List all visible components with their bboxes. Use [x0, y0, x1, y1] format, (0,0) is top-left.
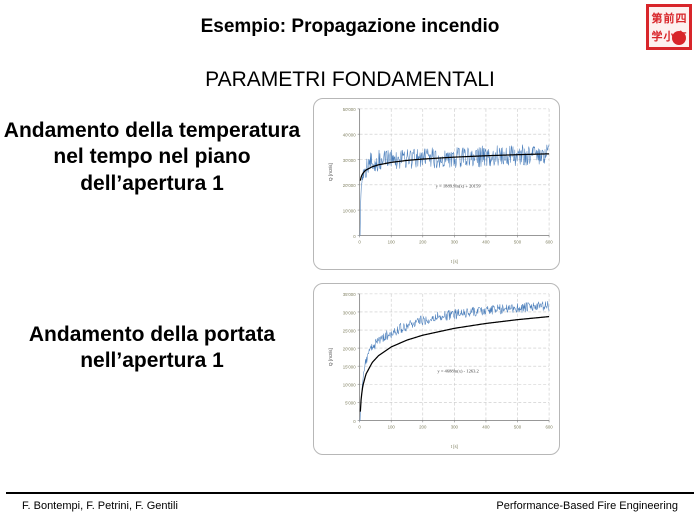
svg-text:Q [m3/s]: Q [m3/s]	[328, 348, 334, 366]
chart-temperatura: 010'00020'00030'00040'00050'000010020030…	[313, 98, 560, 270]
chart-portata: 05'00010'00015'00020'00025'00030'00035'0…	[313, 283, 560, 455]
svg-text:300: 300	[451, 424, 459, 429]
svg-text:0: 0	[353, 419, 356, 424]
footer-subject: Performance-Based Fire Engineering	[496, 500, 678, 512]
svg-text:0: 0	[358, 239, 361, 244]
svg-text:300: 300	[451, 239, 459, 244]
page-title: Esempio: Propagazione incendio	[0, 16, 700, 38]
chart-portata-svg: 05'00010'00015'00020'00025'00030'00035'0…	[314, 284, 559, 454]
seal-dot-icon	[672, 31, 686, 45]
svg-text:600: 600	[545, 424, 553, 429]
svg-text:10'000: 10'000	[343, 383, 357, 388]
svg-text:40'000: 40'000	[343, 133, 357, 138]
svg-text:200: 200	[419, 239, 427, 244]
svg-text:0: 0	[358, 424, 361, 429]
svg-text:20'000: 20'000	[343, 183, 357, 188]
footer-authors: F. Bontempi, F. Petrini, F. Gentili	[22, 500, 178, 512]
svg-text:20'000: 20'000	[343, 346, 357, 351]
svg-text:5'000: 5'000	[345, 401, 356, 406]
svg-text:500: 500	[514, 239, 522, 244]
chart-temperatura-plot: 010'00020'00030'00040'00050'000010020030…	[314, 99, 559, 269]
page-subtitle: PARAMETRI FONDAMENTALI	[0, 68, 700, 92]
seal-glyph: 前	[664, 13, 675, 24]
svg-text:100: 100	[388, 424, 396, 429]
red-seal-logo-icon: 第 前 四 学 小 言	[646, 4, 692, 50]
svg-text:100: 100	[388, 239, 396, 244]
svg-text:500: 500	[514, 424, 522, 429]
svg-text:10'000: 10'000	[343, 208, 357, 213]
chart-portata-plot: 05'00010'00015'00020'00025'00030'00035'0…	[314, 284, 559, 454]
svg-text:35'000: 35'000	[343, 292, 357, 297]
seal-glyph: 四	[676, 13, 687, 24]
svg-text:600: 600	[545, 239, 553, 244]
svg-text:400: 400	[482, 424, 490, 429]
svg-text:0: 0	[353, 234, 356, 239]
svg-text:25'000: 25'000	[343, 328, 357, 333]
svg-text:15'000: 15'000	[343, 365, 357, 370]
caption-temperatura: Andamento della temperatura nel tempo ne…	[2, 118, 302, 197]
svg-text:Q [m3/s]: Q [m3/s]	[328, 163, 334, 181]
footer-divider	[6, 492, 694, 494]
seal-glyph: 第	[652, 13, 663, 24]
svg-text:t [s]: t [s]	[451, 259, 458, 264]
svg-text:400: 400	[482, 239, 490, 244]
seal-glyph: 学	[652, 31, 663, 42]
svg-text:30'000: 30'000	[343, 310, 357, 315]
chart-temperatura-svg: 010'00020'00030'00040'00050'000010020030…	[314, 99, 559, 269]
svg-text:y = 1889.9ln(x) + 20159: y = 1889.9ln(x) + 20159	[436, 183, 481, 188]
svg-text:50'000: 50'000	[343, 107, 357, 112]
svg-text:200: 200	[419, 424, 427, 429]
svg-text:30'000: 30'000	[343, 158, 357, 163]
caption-portata: Andamento della portata nell’apertura 1	[2, 322, 302, 375]
svg-text:t [s]: t [s]	[451, 444, 458, 449]
svg-text:y = 4688ln(x) - 1263.2: y = 4688ln(x) - 1263.2	[437, 368, 479, 373]
